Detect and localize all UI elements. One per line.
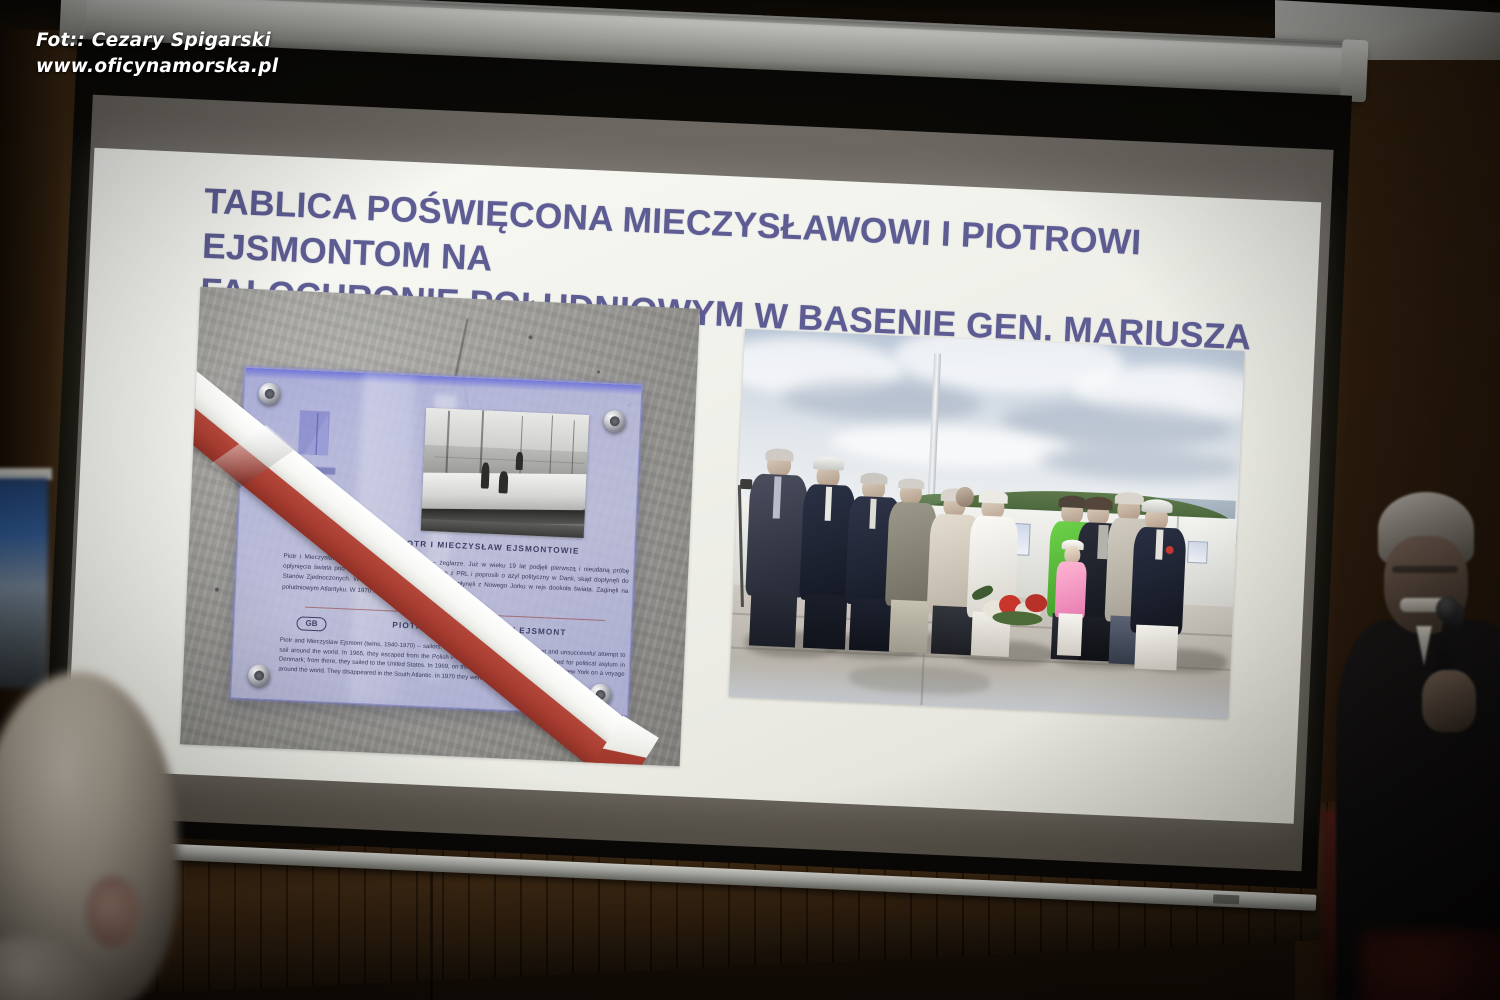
slide-photo-plaque-closeup: PIOTR I MIECZYSŁAW EJSMONTOWIE Piotr i M… xyxy=(180,287,700,767)
attendee-head xyxy=(955,486,974,507)
concrete-speck xyxy=(597,370,600,373)
attendee-hair xyxy=(1084,496,1113,510)
child-pink-jacket xyxy=(1055,561,1087,618)
historic-photo-figure xyxy=(499,471,509,493)
plaque-mounting-bolt xyxy=(603,410,626,433)
screen-brand-tag xyxy=(1213,894,1239,904)
housing-endcap-right xyxy=(1340,39,1369,102)
attendee-legs xyxy=(803,594,847,650)
attendee-legs xyxy=(849,598,893,652)
attendee-hair xyxy=(979,489,1009,503)
attendee-hair xyxy=(1058,495,1087,508)
plaque-mounting-bolt xyxy=(248,664,271,687)
plaque-logo-icon xyxy=(294,404,346,458)
speaker-hand xyxy=(1422,670,1476,732)
floral-wreath xyxy=(980,586,1052,627)
slide-photo-unveiling-group xyxy=(729,329,1245,719)
child-legs xyxy=(1057,613,1083,656)
audience-ear-foreground xyxy=(86,876,140,948)
foreground-blur-right xyxy=(1360,930,1500,1000)
attendee-yacht-cap xyxy=(813,456,845,470)
watermark-site: www.oficynamorska.pl xyxy=(36,54,278,80)
projected-slide: TABLICA POŚWIĘCONA MIECZYSŁAWOWI I PIOTR… xyxy=(67,148,1321,824)
attendee-legs xyxy=(749,589,797,647)
photo-credit-watermark: Fot:: Cezary Spigarski www.oficynamorska… xyxy=(36,28,278,81)
attendee-hair xyxy=(860,472,887,484)
conference-room-scene: TABLICA POŚWIĘCONA MIECZYSŁAWOWI I PIOTR… xyxy=(0,0,1500,1000)
watermark-credit: Fot:: Cezary Spigarski xyxy=(36,28,278,54)
secondary-plaque xyxy=(1187,541,1208,564)
plaque-historic-photo xyxy=(421,408,589,538)
attendee-hair xyxy=(898,478,924,489)
wreath-red-flowers xyxy=(1025,594,1048,613)
attendee-hair xyxy=(765,448,794,461)
plaque-mounting-bolt xyxy=(258,382,281,405)
attendee-yacht-cap xyxy=(1141,499,1173,513)
speaker-with-microphone xyxy=(1326,492,1500,1000)
historic-photo-figure xyxy=(516,452,524,470)
attendee-legs xyxy=(889,600,929,654)
dock-rail xyxy=(434,456,584,464)
attendee-shirt xyxy=(1155,529,1163,559)
projection-screen-assembly: TABLICA POŚWIĘCONA MIECZYSŁAWOWI I PIOTR… xyxy=(17,0,1377,956)
attendee-white-trousers xyxy=(1134,625,1178,671)
attendee-hair xyxy=(1115,492,1145,505)
historic-photo-figure xyxy=(481,462,490,488)
speaker-brow xyxy=(1392,566,1458,573)
